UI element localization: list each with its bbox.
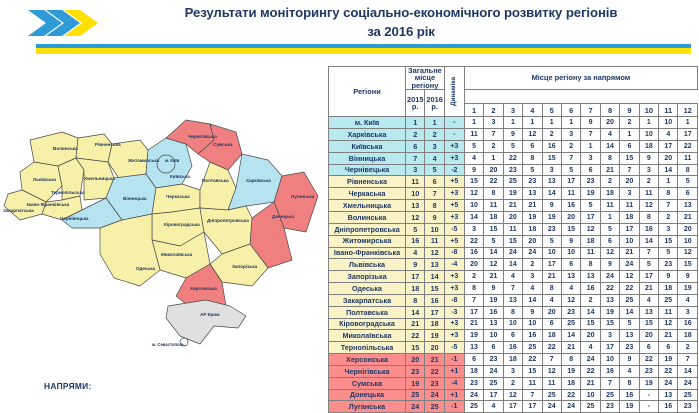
cell-direction-8: 21 xyxy=(600,164,619,176)
header-direction-place: Місце регіону за напрямом xyxy=(464,67,697,90)
cell-direction-12: 15 xyxy=(678,259,698,271)
cell-direction-3: 16 xyxy=(503,342,522,354)
cell-direction-10: - xyxy=(639,389,658,401)
cell-direction-4: 9 xyxy=(523,306,542,318)
cell-direction-2: 12 xyxy=(484,259,503,271)
cell-direction-1: 10 xyxy=(464,200,483,212)
cell-direction-11: 5 xyxy=(659,247,678,259)
cell-direction-7: 5 xyxy=(581,200,600,212)
cell-direction-7: 19 xyxy=(581,188,600,200)
cell-direction-9: 24 xyxy=(620,259,639,271)
cell-direction-4: 6 xyxy=(523,140,542,152)
cell-rank-2016: 3 xyxy=(425,140,444,152)
cell-direction-8: 2 xyxy=(600,176,619,188)
table-row: Тернопільська1520-51361625222141723662 xyxy=(329,342,698,354)
cell-direction-11: 8 xyxy=(659,188,678,200)
cell-rank-2016: 11 xyxy=(425,235,444,247)
cell-region-name: Житомирська xyxy=(329,235,406,247)
table-row: Рівненська116+515222523131723220215 xyxy=(329,176,698,188)
cell-direction-12: 18 xyxy=(678,330,698,342)
cell-direction-8: 19 xyxy=(600,306,619,318)
cell-direction-2: 18 xyxy=(484,211,503,223)
cell-region-name: Черкаська xyxy=(329,188,406,200)
cell-direction-9: 5 xyxy=(620,318,639,330)
cell-dynamics: -5 xyxy=(444,342,464,354)
cell-rank-2015: 6 xyxy=(406,140,425,152)
cell-direction-7: 4 xyxy=(581,342,600,354)
map-label-luhansk: Луганська xyxy=(291,194,315,199)
cell-dynamics: -8 xyxy=(444,247,464,259)
cell-direction-2: 23 xyxy=(484,354,503,366)
cell-rank-2016: 17 xyxy=(425,306,444,318)
cell-direction-3: 2 xyxy=(503,377,522,389)
cell-direction-3: 7 xyxy=(503,283,522,295)
cell-direction-8: 4 xyxy=(600,129,619,141)
cell-direction-8: 15 xyxy=(600,318,619,330)
cell-direction-10: 8 xyxy=(639,211,658,223)
cell-rank-2016: 13 xyxy=(425,259,444,271)
cell-rank-2015: 25 xyxy=(406,389,425,401)
page-header: Результати моніторингу соціально-економі… xyxy=(0,0,699,58)
cell-direction-4: 3 xyxy=(523,271,542,283)
cell-region-name: Полтавська xyxy=(329,306,406,318)
cell-direction-5: 1 xyxy=(542,117,561,129)
cell-rank-2015: 17 xyxy=(406,271,425,283)
cell-region-name: Тернопільська xyxy=(329,342,406,354)
header-direction-6: 6 xyxy=(561,104,580,117)
cell-direction-4: 19 xyxy=(523,211,542,223)
cell-direction-1: 19 xyxy=(464,330,483,342)
cell-direction-7: 15 xyxy=(581,318,600,330)
cell-rank-2016: 22 xyxy=(425,365,444,377)
cell-direction-10: 2 xyxy=(639,176,658,188)
cell-direction-5: 21 xyxy=(542,271,561,283)
map-label-mykolaiv: Миколаївська xyxy=(161,252,193,257)
cell-region-name: Кіровоградська xyxy=(329,318,406,330)
cell-direction-2: 11 xyxy=(484,200,503,212)
cell-direction-6: 1 xyxy=(561,117,580,129)
cell-direction-2: 13 xyxy=(484,318,503,330)
table-row: Івано-Франківська412-8161424241010111221… xyxy=(329,247,698,259)
cell-direction-8: 1 xyxy=(600,211,619,223)
cell-direction-12: 22 xyxy=(678,140,698,152)
cell-region-name: Запорізька xyxy=(329,271,406,283)
cell-direction-9: 10 xyxy=(620,235,639,247)
cell-direction-5: 4 xyxy=(542,294,561,306)
cell-rank-2016: 21 xyxy=(425,354,444,366)
header-dynamics: Динаміка xyxy=(444,67,464,117)
cell-direction-10: 16 xyxy=(639,223,658,235)
table-row: Дніпропетровська510-53151118231512517163… xyxy=(329,223,698,235)
cell-direction-12: 19 xyxy=(678,283,698,295)
table-header-row-1: Регіони Загальне місце регіону Динаміка … xyxy=(329,67,698,90)
cell-rank-2015: 15 xyxy=(406,342,425,354)
cell-direction-2: 19 xyxy=(484,294,503,306)
cell-direction-1: 8 xyxy=(464,283,483,295)
cell-dynamics: +3 xyxy=(444,283,464,295)
cell-direction-3: 11 xyxy=(503,223,522,235)
cell-direction-10: 5 xyxy=(639,259,658,271)
cell-direction-9: 4 xyxy=(620,365,639,377)
table-row: Донецька2524+124171272522102516-1325 xyxy=(329,389,698,401)
cell-direction-9: 11 xyxy=(620,200,639,212)
cell-direction-3: 19 xyxy=(503,188,522,200)
cell-direction-6: 19 xyxy=(561,365,580,377)
cell-rank-2015: 21 xyxy=(406,318,425,330)
cell-direction-10: 4 xyxy=(639,294,658,306)
cell-direction-8: 9 xyxy=(600,259,619,271)
napryami-heading: НАПРЯМИ: xyxy=(44,381,92,391)
cell-direction-12: 9 xyxy=(678,271,698,283)
header-regions: Регіони xyxy=(329,67,406,117)
cell-dynamics: +3 xyxy=(444,152,464,164)
map-region-crimea xyxy=(166,300,246,344)
cell-direction-11: 7 xyxy=(659,200,678,212)
cell-direction-4: 1 xyxy=(523,117,542,129)
cell-direction-10: 7 xyxy=(639,247,658,259)
map-region-rivne xyxy=(76,134,112,162)
cell-direction-3: 21 xyxy=(503,200,522,212)
cell-dynamics: +3 xyxy=(444,140,464,152)
cell-direction-8: 6 xyxy=(600,235,619,247)
cell-direction-5: 14 xyxy=(542,188,561,200)
cell-direction-3: 12 xyxy=(503,389,522,401)
cell-direction-2: 7 xyxy=(484,129,503,141)
table-row: Закарпатська816-87191314412213254254 xyxy=(329,294,698,306)
cell-direction-10: 9 xyxy=(639,152,658,164)
cell-direction-4: 8 xyxy=(523,152,542,164)
cell-direction-1: 6 xyxy=(464,354,483,366)
cell-direction-3: 8 xyxy=(503,306,522,318)
cell-direction-4: 14 xyxy=(523,294,542,306)
cell-direction-2: 2 xyxy=(484,140,503,152)
cell-direction-3: 23 xyxy=(503,164,522,176)
map-label-odesa: Одеська xyxy=(136,266,156,271)
cell-direction-1: 21 xyxy=(464,318,483,330)
cell-direction-11: 17 xyxy=(659,140,678,152)
cell-rank-2016: 5 xyxy=(425,164,444,176)
cell-rank-2016: 15 xyxy=(425,283,444,295)
map-label-zhytomyr: Житомирська xyxy=(127,158,160,163)
cell-direction-7: 2 xyxy=(581,294,600,306)
cell-direction-1: 9 xyxy=(464,164,483,176)
table-row: Сумська1923-4232521111182178192424 xyxy=(329,377,698,389)
cell-direction-12: 21 xyxy=(678,211,698,223)
cell-region-name: Вінницька xyxy=(329,152,406,164)
cell-direction-3: 9 xyxy=(503,129,522,141)
cell-direction-2: 1 xyxy=(484,152,503,164)
cell-rank-2015: 10 xyxy=(406,188,425,200)
cell-direction-6: 5 xyxy=(561,164,580,176)
header-year-2016: 2016 р. xyxy=(425,90,444,117)
header-direction-4: 4 xyxy=(523,104,542,117)
cell-rank-2016: 23 xyxy=(425,377,444,389)
cell-direction-4: 10 xyxy=(523,318,542,330)
cell-direction-6: 13 xyxy=(561,271,580,283)
cell-direction-2: 15 xyxy=(484,223,503,235)
cell-direction-6: 7 xyxy=(561,152,580,164)
header-direction-10: 10 xyxy=(639,104,658,117)
cell-direction-12: 1 xyxy=(678,117,698,129)
cell-rank-2016: 19 xyxy=(425,330,444,342)
cell-direction-3: 14 xyxy=(503,259,522,271)
cell-dynamics: - xyxy=(444,117,464,129)
cell-direction-11: 15 xyxy=(659,235,678,247)
cell-rank-2015: 1 xyxy=(406,117,425,129)
table-row: Полтавська1417-3171689202314191413113 xyxy=(329,306,698,318)
map-label-donetsk: Донецька xyxy=(272,214,294,219)
cell-rank-2016: 20 xyxy=(425,342,444,354)
cell-direction-7: 7 xyxy=(581,129,600,141)
cell-direction-7: 18 xyxy=(581,235,600,247)
cell-direction-1: 7 xyxy=(464,294,483,306)
cell-direction-10: 20 xyxy=(639,330,658,342)
cell-dynamics: +3 xyxy=(444,318,464,330)
cell-direction-11: 2 xyxy=(659,211,678,223)
cell-direction-8: 11 xyxy=(600,200,619,212)
table-row: Київська63+352561621146181722 xyxy=(329,140,698,152)
cell-direction-11: 21 xyxy=(659,330,678,342)
header-direction-5: 5 xyxy=(542,104,561,117)
cell-direction-7: 3 xyxy=(581,152,600,164)
header-direction-1: 1 xyxy=(464,104,483,117)
cell-direction-11: 23 xyxy=(659,259,678,271)
cell-direction-11: 6 xyxy=(659,342,678,354)
cell-direction-9: 6 xyxy=(620,140,639,152)
cell-direction-11: 9 xyxy=(659,271,678,283)
cell-direction-5: 7 xyxy=(542,354,561,366)
cell-rank-2016: 4 xyxy=(425,152,444,164)
cell-direction-11: 14 xyxy=(659,164,678,176)
map-region-odesa xyxy=(100,214,160,286)
cell-rank-2015: 19 xyxy=(406,377,425,389)
map-label-zakarpattia: Закарпатська xyxy=(3,208,34,213)
cell-direction-11: 12 xyxy=(659,318,678,330)
cell-direction-11: 25 xyxy=(659,294,678,306)
cell-direction-9: 7 xyxy=(620,164,639,176)
cell-region-name: Миколаївська xyxy=(329,330,406,342)
cell-direction-1: 18 xyxy=(464,365,483,377)
cell-direction-11: 4 xyxy=(659,129,678,141)
cell-direction-8: 22 xyxy=(600,283,619,295)
cell-direction-5: 22 xyxy=(542,342,561,354)
cell-rank-2015: 20 xyxy=(406,354,425,366)
map-label-kherson: Херсонська xyxy=(190,286,217,291)
cell-direction-1: 15 xyxy=(464,176,483,188)
cell-direction-4: 2 xyxy=(523,259,542,271)
map-label-kyiv-city: м. Київ xyxy=(165,158,180,163)
cell-direction-1: 17 xyxy=(464,306,483,318)
cell-direction-2: 17 xyxy=(484,389,503,401)
cell-rank-2016: 16 xyxy=(425,294,444,306)
cell-direction-5: 12 xyxy=(542,365,561,377)
cell-direction-5: 5 xyxy=(542,235,561,247)
cell-dynamics: +1 xyxy=(444,365,464,377)
cell-direction-12: 5 xyxy=(678,176,698,188)
cell-direction-2: 21 xyxy=(484,271,503,283)
cell-dynamics: +5 xyxy=(444,200,464,212)
cell-direction-10: 14 xyxy=(639,235,658,247)
cell-direction-12: 2 xyxy=(678,342,698,354)
cell-direction-8: 16 xyxy=(600,365,619,377)
cell-rank-2015: 12 xyxy=(406,211,425,223)
cell-direction-5: 10 xyxy=(542,247,561,259)
map-label-volyn: Волинська xyxy=(53,146,78,151)
map-label-kharkiv: Харківська xyxy=(246,178,271,183)
cell-rank-2015: 3 xyxy=(406,164,425,176)
cell-direction-11: 13 xyxy=(659,389,678,401)
cell-direction-10: 11 xyxy=(639,188,658,200)
cell-direction-9: 1 xyxy=(620,129,639,141)
cell-rank-2015: 9 xyxy=(406,259,425,271)
cell-region-name: Одеська xyxy=(329,283,406,295)
cell-direction-5: 8 xyxy=(542,283,561,295)
cell-direction-4: 5 xyxy=(523,164,542,176)
cell-direction-8: 3 xyxy=(600,330,619,342)
cell-direction-3: 6 xyxy=(503,330,522,342)
header-direction-3: 3 xyxy=(503,104,522,117)
map-label-chernihiv: Чернігівська xyxy=(188,134,217,139)
cell-direction-11: 22 xyxy=(659,365,678,377)
table-row: Житомирська1611+522515205918610141510 xyxy=(329,235,698,247)
cell-direction-12: 3 xyxy=(678,306,698,318)
cell-direction-10: 3 xyxy=(639,164,658,176)
cell-dynamics: +3 xyxy=(444,211,464,223)
cell-rank-2016: 9 xyxy=(425,211,444,223)
cell-direction-12: 25 xyxy=(678,389,698,401)
cell-direction-7: 14 xyxy=(581,306,600,318)
cell-direction-2: 10 xyxy=(484,330,503,342)
cell-direction-6: 11 xyxy=(561,188,580,200)
cell-direction-5: 20 xyxy=(542,306,561,318)
cell-direction-7: 8 xyxy=(581,259,600,271)
cell-direction-3: 25 xyxy=(503,176,522,188)
cell-direction-7: 11 xyxy=(581,247,600,259)
cell-direction-5: 17 xyxy=(542,259,561,271)
cell-direction-9: 21 xyxy=(620,247,639,259)
cell-direction-4: 7 xyxy=(523,389,542,401)
cell-direction-3: 1 xyxy=(503,117,522,129)
cell-direction-12: 20 xyxy=(678,223,698,235)
cell-rank-2015: 14 xyxy=(406,306,425,318)
cell-direction-10: 21 xyxy=(639,283,658,295)
cell-direction-8: 24 xyxy=(600,271,619,283)
cell-direction-2: 20 xyxy=(484,164,503,176)
cell-direction-12: 17 xyxy=(678,129,698,141)
cell-direction-12: 4 xyxy=(678,294,698,306)
chevron-logo xyxy=(28,6,104,42)
cell-direction-4: 25 xyxy=(523,342,542,354)
cell-direction-4: 16 xyxy=(523,330,542,342)
cell-direction-12: 6 xyxy=(678,188,698,200)
cell-direction-3: 20 xyxy=(503,211,522,223)
cell-region-name: Херсонська xyxy=(329,354,406,366)
cell-region-name: м. Київ xyxy=(329,117,406,129)
cell-direction-12: 13 xyxy=(678,200,698,212)
cell-direction-10: 15 xyxy=(639,318,658,330)
cell-dynamics: +3 xyxy=(444,330,464,342)
cell-direction-6: 25 xyxy=(561,318,580,330)
cell-rank-2015: 5 xyxy=(406,223,425,235)
cell-rank-2015: 4 xyxy=(406,247,425,259)
cell-direction-5: 6 xyxy=(542,318,561,330)
cell-direction-9: 9 xyxy=(620,354,639,366)
rank-table-container: Регіони Загальне місце регіону Динаміка … xyxy=(328,66,698,413)
cell-direction-2: 24 xyxy=(484,365,503,377)
cell-direction-1: 16 xyxy=(464,247,483,259)
table-body: м. Київ11-13111192021101Харківська22-117… xyxy=(329,117,698,413)
table-row: Волинська129+3141820191920171188221 xyxy=(329,211,698,223)
cell-direction-9: 14 xyxy=(620,306,639,318)
map-label-kirovohrad: Кіровоградська xyxy=(164,222,200,227)
cell-direction-12: 16 xyxy=(678,318,698,330)
cell-direction-4: 23 xyxy=(523,176,542,188)
cell-direction-4: 11 xyxy=(523,377,542,389)
cell-direction-4: 15 xyxy=(523,365,542,377)
cell-rank-2016: 14 xyxy=(425,271,444,283)
cell-rank-2016: 8 xyxy=(425,200,444,212)
cell-rank-2016: 18 xyxy=(425,318,444,330)
cell-dynamics: -4 xyxy=(444,259,464,271)
header-direction-9: 9 xyxy=(620,104,639,117)
cell-direction-12: 10 xyxy=(678,235,698,247)
cell-direction-9: 23 xyxy=(620,342,639,354)
cell-direction-5: 3 xyxy=(542,164,561,176)
cell-direction-9: 13 xyxy=(620,330,639,342)
map-label-sevastopol: м. Севастополь xyxy=(152,342,185,347)
cell-direction-9: 8 xyxy=(620,377,639,389)
cell-direction-7: 22 xyxy=(581,365,600,377)
cell-direction-7: 20 xyxy=(581,330,600,342)
cell-direction-6: 15 xyxy=(561,223,580,235)
cell-direction-11: 1 xyxy=(659,176,678,188)
divider-bar-yellow xyxy=(36,48,691,54)
cell-dynamics: -8 xyxy=(444,294,464,306)
cell-region-name: Рівненська xyxy=(329,176,406,188)
cell-direction-3: 4 xyxy=(503,271,522,283)
cell-rank-2016: 12 xyxy=(425,247,444,259)
cell-direction-9: 17 xyxy=(620,223,639,235)
cell-direction-1: 20 xyxy=(464,259,483,271)
cell-dynamics: -5 xyxy=(444,223,464,235)
cell-direction-5: 15 xyxy=(542,152,561,164)
cell-direction-1: 22 xyxy=(464,235,483,247)
header-dynamics-text: Динаміка xyxy=(451,77,457,106)
cell-direction-7: 9 xyxy=(581,117,600,129)
cell-dynamics: +1 xyxy=(444,389,464,401)
cell-direction-10: 1 xyxy=(639,117,658,129)
cell-direction-9: 3 xyxy=(620,188,639,200)
header-year-2015: 2015 р. xyxy=(406,90,425,117)
cell-dynamics: -1 xyxy=(444,354,464,366)
cell-dynamics: +5 xyxy=(444,176,464,188)
cell-direction-8: 20 xyxy=(600,117,619,129)
cell-direction-3: 18 xyxy=(503,354,522,366)
cell-direction-1: 2 xyxy=(464,271,483,283)
cell-region-name: Київська xyxy=(329,140,406,152)
ukraine-region-map: Волинська Рівненська Житомирська м. Київ… xyxy=(0,110,325,375)
cell-direction-4: 13 xyxy=(523,188,542,200)
cell-rank-2015: 7 xyxy=(406,152,425,164)
cell-direction-6: 8 xyxy=(561,354,580,366)
cell-direction-8: 7 xyxy=(600,377,619,389)
cell-direction-1: 1 xyxy=(464,117,483,129)
header-direction-8: 8 xyxy=(600,104,619,117)
table-row: м. Київ11-13111192021101 xyxy=(329,117,698,129)
table-row: Кіровоградська2118+321131010625151551512… xyxy=(329,318,698,330)
cell-direction-4: 4 xyxy=(523,283,542,295)
cell-direction-8: 25 xyxy=(600,389,619,401)
